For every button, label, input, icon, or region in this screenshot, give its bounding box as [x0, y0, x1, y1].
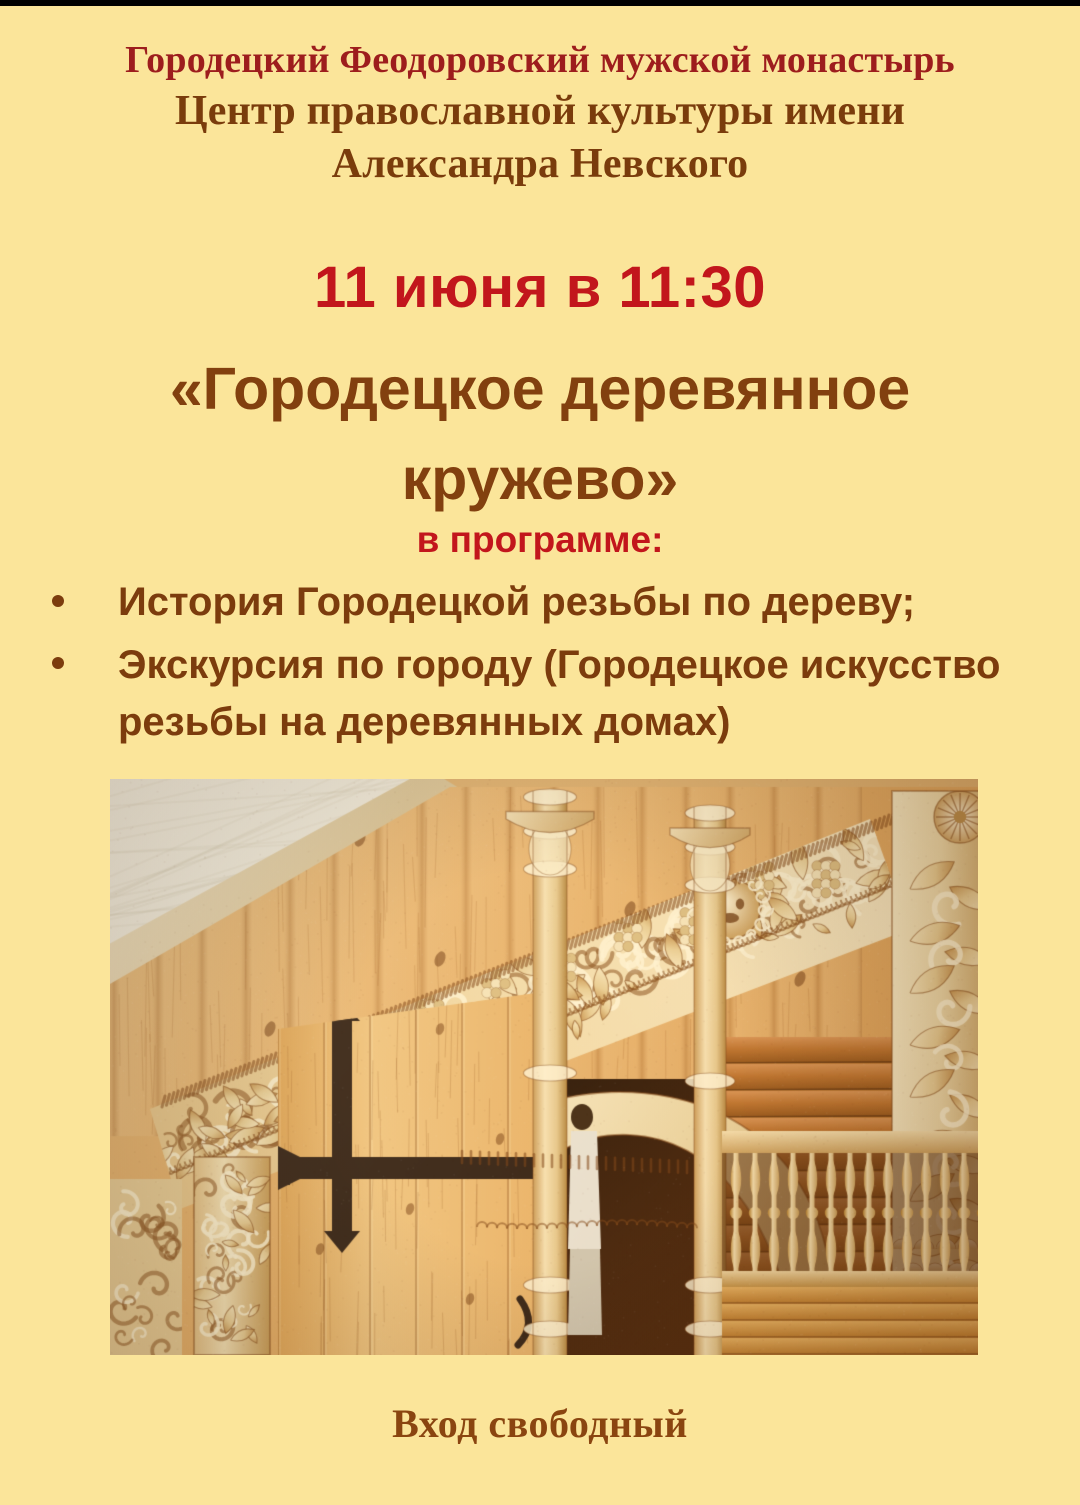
organisation-header: Городецкий Феодоровский мужской монастыр…	[0, 36, 1080, 192]
list-item: Экскурсия по городу (Городецкое искусств…	[30, 637, 1060, 752]
event-date: 11 июня в 11:30	[0, 258, 1080, 319]
bullet-dot-icon	[52, 657, 64, 669]
photo-carved-wooden-house	[110, 779, 978, 1355]
bullet-dot-icon	[52, 595, 64, 607]
poster-root: Городецкий Феодоровский мужской монастыр…	[0, 0, 1080, 1505]
header-line-monastery: Городецкий Феодоровский мужской монастыр…	[0, 36, 1080, 85]
event-title-line-1: «Городецкое деревянное	[80, 345, 1000, 435]
footer-note: Вход свободный	[0, 1400, 1080, 1447]
programme-label: в программе:	[0, 518, 1080, 562]
list-item: История Городецкой резьбы по дереву;	[30, 574, 1060, 632]
event-title: «Городецкое деревянное кружево»	[0, 345, 1080, 524]
programme-list: История Городецкой резьбы по дереву; Экс…	[30, 574, 1060, 757]
list-item-label: Экскурсия по городу (Городецкое искусств…	[118, 643, 1000, 745]
header-line-center: Центр православной культуры имени	[0, 85, 1080, 139]
header-line-name: Александра Невского	[0, 138, 1080, 192]
photo-canvas	[110, 779, 978, 1355]
list-item-label: История Городецкой резьбы по дереву;	[118, 580, 915, 624]
top-black-strip	[0, 0, 1080, 6]
event-title-line-2: кружево»	[80, 435, 1000, 525]
